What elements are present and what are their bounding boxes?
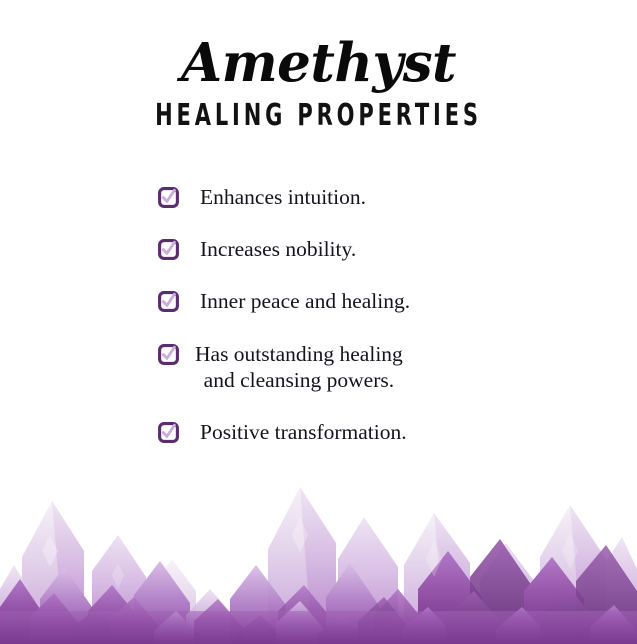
checked-checkbox-icon (158, 291, 179, 312)
list-item-label: Positive transformation. (179, 419, 407, 445)
list-item: Inner peace and healing. (158, 288, 578, 314)
list-item-label: Enhances intuition. (179, 184, 366, 210)
checked-checkbox-icon (158, 422, 179, 443)
list-item: Has outstanding healing and cleansing po… (158, 341, 578, 393)
list-item: Enhances intuition. (158, 184, 578, 210)
list-item: Positive transformation. (158, 419, 578, 445)
amethyst-crystal-image (0, 439, 637, 644)
page-subtitle: HEALING PROPERTIES (96, 101, 542, 131)
list-item-label: Has outstanding healing and cleansing po… (179, 341, 403, 393)
amethyst-healing-properties-card: Amethyst HEALING PROPERTIES Enhances int… (0, 0, 637, 644)
checked-checkbox-icon (158, 239, 179, 260)
checked-checkbox-icon (158, 187, 179, 208)
list-item-label: Inner peace and healing. (179, 288, 410, 314)
healing-properties-list: Enhances intuition.Increases nobility.In… (158, 184, 578, 445)
list-item: Increases nobility. (158, 236, 578, 262)
header: Amethyst HEALING PROPERTIES (0, 36, 637, 131)
page-title: Amethyst (0, 36, 637, 92)
checked-checkbox-icon (158, 344, 179, 365)
list-item-label: Increases nobility. (179, 236, 356, 262)
